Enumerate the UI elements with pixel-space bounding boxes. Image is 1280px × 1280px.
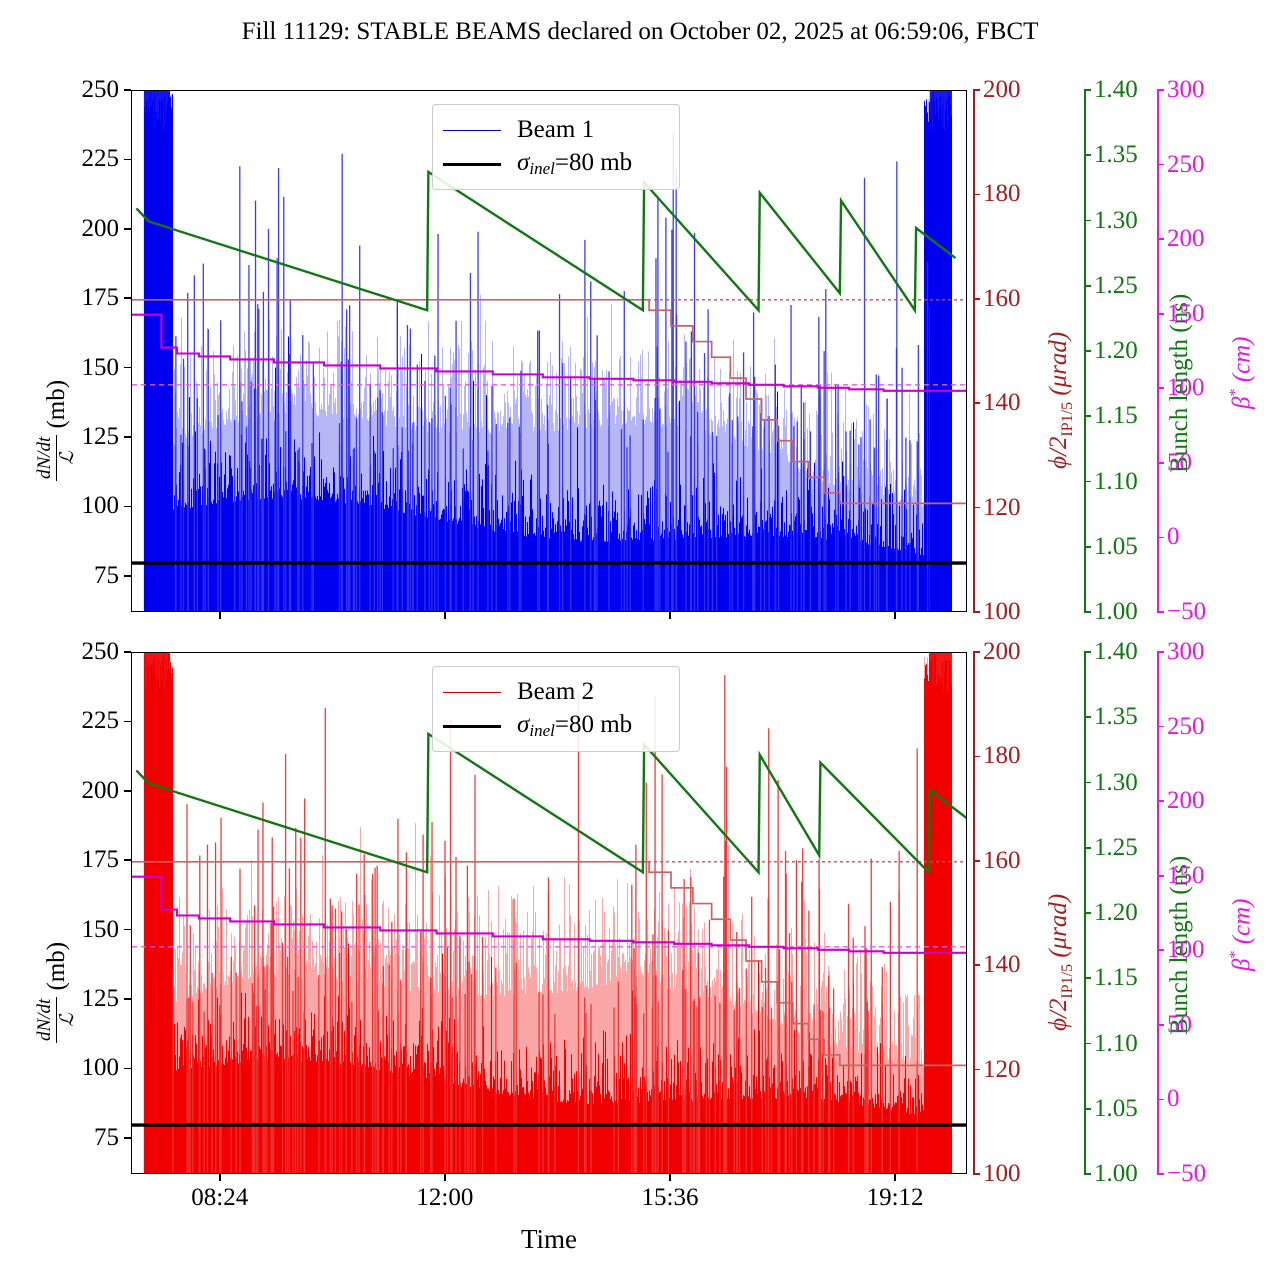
bunch-length-tick-mark	[1084, 782, 1091, 784]
legend-2: Beam 2σinel=80 mb	[432, 666, 680, 752]
bunch-length-sawtooth	[136, 172, 955, 310]
crossing-angle-tick-mark	[973, 860, 980, 862]
crossing-angle-tick-label: 180	[983, 742, 1021, 770]
bunch-length-tick-mark	[1084, 220, 1091, 222]
crossing-angle-tick-mark	[973, 651, 980, 653]
bunch-length-tick-label: 1.10	[1094, 1030, 1138, 1058]
page-title: Fill 11129: STABLE BEAMS declared on Oct…	[0, 18, 1280, 46]
x-axis-tick-label: 15:36	[642, 1184, 699, 1212]
beta-star-tick-label: 250	[1167, 713, 1205, 741]
beta-star-tick-label: 0	[1167, 523, 1180, 551]
legend-1: Beam 1σinel=80 mb	[432, 104, 680, 190]
bunch-length-tick-mark	[1084, 154, 1091, 156]
bunch-length-tick-mark	[1084, 1108, 1091, 1110]
x-axis-tick-mark	[669, 612, 671, 619]
x-axis-tick-label: 19:12	[867, 1184, 924, 1212]
left-axis-tick-label: 175	[0, 284, 119, 312]
left-axis-tick-mark	[124, 790, 131, 792]
crossing-angle-tick-label: 140	[983, 389, 1021, 417]
crossing-angle-tick-mark	[973, 298, 980, 300]
left-axis-title: dN/dtℒ (mb)	[34, 380, 80, 481]
crossing-angle-tick-label: 100	[983, 1160, 1021, 1188]
legend-line-swatch	[443, 130, 501, 131]
bunch-length-tick-label: 1.30	[1094, 769, 1138, 797]
beta-star-tick-label: 200	[1167, 225, 1205, 253]
bunch-length-tick-mark	[1084, 651, 1091, 653]
beta-star-tick-label: 50	[1167, 449, 1192, 477]
x-axis-tick-mark	[444, 612, 446, 619]
bunch-length-tick-label: 1.20	[1094, 899, 1138, 927]
bunch-length-tick-label: 1.35	[1094, 141, 1138, 169]
crossing-angle-axis-spine	[973, 90, 975, 612]
left-axis-tick-label: 225	[0, 707, 119, 735]
legend-line-swatch	[443, 725, 501, 728]
crossing-angle-tick-label: 180	[983, 180, 1021, 208]
beta-star-tick-mark	[1157, 462, 1164, 464]
beta-star-tick-label: 0	[1167, 1085, 1180, 1113]
bunch-length-tick-mark	[1084, 1173, 1091, 1175]
left-axis-title: dN/dtℒ (mb)	[34, 942, 80, 1043]
beta-star-tick-mark	[1157, 313, 1164, 315]
beta-star-tick-label: 100	[1167, 374, 1205, 402]
beta-star-axis-title: β* (cm)	[1227, 336, 1256, 409]
bunch-length-tick-label: 1.25	[1094, 272, 1138, 300]
bunch-length-sawtooth	[136, 734, 967, 872]
beta-star-tick-mark	[1157, 800, 1164, 802]
x-axis-tick-label: 08:24	[191, 1184, 248, 1212]
left-axis-tick-mark	[124, 1068, 131, 1070]
crossing-angle-tick-label: 120	[983, 494, 1021, 522]
beta-star-tick-label: −50	[1167, 1160, 1206, 1188]
legend-entry: σinel=80 mb	[443, 147, 665, 181]
bunch-length-tick-label: 1.15	[1094, 402, 1138, 430]
bunch-length-tick-mark	[1084, 847, 1091, 849]
crossing-angle-axis-spine	[973, 652, 975, 1174]
bunch-length-tick-label: 1.35	[1094, 703, 1138, 731]
beta-star-tick-mark	[1157, 387, 1164, 389]
beta-star-tick-mark	[1157, 875, 1164, 877]
beta-star-axis-title: β* (cm)	[1227, 898, 1256, 971]
bunch-length-tick-mark	[1084, 481, 1091, 483]
beta-star-tick-mark	[1157, 949, 1164, 951]
legend-entry-label: Beam 2	[517, 678, 594, 706]
crossing-angle-tick-mark	[973, 1173, 980, 1175]
bunch-length-tick-mark	[1084, 611, 1091, 613]
left-axis-tick-label: 75	[0, 1124, 119, 1152]
left-axis-tick-mark	[124, 575, 131, 577]
bunch-length-tick-label: 1.00	[1094, 1160, 1138, 1188]
beta-star-tick-label: 300	[1167, 76, 1205, 104]
crossing-angle-tick-label: 100	[983, 598, 1021, 626]
beta-star-tick-mark	[1157, 1099, 1164, 1101]
left-axis-tick-mark	[124, 998, 131, 1000]
x-axis-tick-mark	[219, 612, 221, 619]
crossing-angle-tick-mark	[973, 89, 980, 91]
beta-star-tick-mark	[1157, 89, 1164, 91]
x-axis-tick-mark	[894, 612, 896, 619]
bunch-length-tick-label: 1.00	[1094, 598, 1138, 626]
beta-star-tick-label: −50	[1167, 598, 1206, 626]
x-axis-tick-mark	[669, 1174, 671, 1181]
left-axis-tick-mark	[124, 297, 131, 299]
crossing-angle-tick-mark	[973, 756, 980, 758]
bunch-length-tick-mark	[1084, 89, 1091, 91]
left-axis-tick-mark	[124, 721, 131, 723]
bunch-length-tick-label: 1.40	[1094, 76, 1138, 104]
beta-star-tick-mark	[1157, 651, 1164, 653]
x-axis-tick-mark	[219, 1174, 221, 1181]
beta-star-tick-label: 300	[1167, 638, 1205, 666]
legend-entry-label: Beam 1	[517, 116, 594, 144]
beta-star-tick-mark	[1157, 537, 1164, 539]
left-axis-tick-mark	[124, 1137, 131, 1139]
crossing-angle-tick-mark	[973, 194, 980, 196]
bunch-length-tick-mark	[1084, 285, 1091, 287]
left-axis-tick-label: 250	[0, 76, 119, 104]
left-axis-tick-label: 250	[0, 638, 119, 666]
left-axis-tick-mark	[124, 929, 131, 931]
crossing-angle-tick-label: 160	[983, 285, 1021, 313]
beta-star-tick-label: 250	[1167, 151, 1205, 179]
crossing-angle-tick-mark	[973, 964, 980, 966]
crossing-angle-tick-mark	[973, 402, 980, 404]
left-axis-tick-label: 225	[0, 145, 119, 173]
left-axis-tick-mark	[124, 367, 131, 369]
beta-star-axis-spine	[1157, 90, 1159, 612]
bunch-length-tick-label: 1.15	[1094, 964, 1138, 992]
bunch-length-tick-mark	[1084, 350, 1091, 352]
bunch-length-tick-label: 1.40	[1094, 638, 1138, 666]
beta-star-step-curve	[132, 877, 967, 953]
x-axis-title: Time	[131, 1224, 967, 1255]
bunch-length-tick-label: 1.05	[1094, 533, 1138, 561]
bunch-length-tick-label: 1.05	[1094, 1095, 1138, 1123]
legend-entry: Beam 1	[443, 113, 665, 147]
legend-line-swatch	[443, 692, 501, 693]
crossing-angle-tick-mark	[973, 1069, 980, 1071]
beta-star-tick-label: 50	[1167, 1011, 1192, 1039]
left-axis-tick-mark	[124, 89, 131, 91]
beta-star-tick-mark	[1157, 164, 1164, 166]
x-axis-tick-mark	[444, 1174, 446, 1181]
bunch-length-tick-mark	[1084, 1043, 1091, 1045]
crossing-angle-tick-mark	[973, 507, 980, 509]
beta-star-axis-spine	[1157, 652, 1159, 1174]
legend-line-swatch	[443, 163, 501, 166]
left-axis-tick-label: 200	[0, 215, 119, 243]
beta-star-tick-label: 150	[1167, 300, 1205, 328]
bunch-length-tick-mark	[1084, 546, 1091, 548]
x-axis-tick-label: 12:00	[416, 1184, 473, 1212]
legend-entry: σinel=80 mb	[443, 709, 665, 743]
left-axis-tick-label: 100	[0, 492, 119, 520]
legend-entry-label: σinel=80 mb	[517, 711, 632, 741]
beta-star-tick-label: 150	[1167, 862, 1205, 890]
bunch-length-tick-label: 1.10	[1094, 468, 1138, 496]
left-axis-tick-label: 100	[0, 1054, 119, 1082]
left-axis-tick-mark	[124, 506, 131, 508]
bunch-length-tick-mark	[1084, 977, 1091, 979]
bunch-length-tick-mark	[1084, 716, 1091, 718]
left-axis-tick-mark	[124, 859, 131, 861]
bunch-length-tick-label: 1.30	[1094, 207, 1138, 235]
left-axis-tick-label: 75	[0, 562, 119, 590]
x-axis-tick-mark	[894, 1174, 896, 1181]
left-axis-tick-mark	[124, 436, 131, 438]
beta-star-tick-mark	[1157, 1173, 1164, 1175]
legend-entry: Beam 2	[443, 675, 665, 709]
beta-star-tick-mark	[1157, 1024, 1164, 1026]
bunch-length-tick-label: 1.20	[1094, 337, 1138, 365]
bunch-length-tick-mark	[1084, 415, 1091, 417]
beta-star-tick-label: 100	[1167, 936, 1205, 964]
crossing-angle-tick-label: 120	[983, 1056, 1021, 1084]
left-axis-tick-mark	[124, 159, 131, 161]
left-axis-tick-label: 150	[0, 916, 119, 944]
left-axis-tick-mark	[124, 228, 131, 230]
crossing-angle-axis-title: ϕ/2IP1/5 (μrad)	[1045, 332, 1077, 469]
left-axis-tick-mark	[124, 651, 131, 653]
beta-star-tick-mark	[1157, 238, 1164, 240]
crossing-angle-tick-mark	[973, 611, 980, 613]
bunch-length-tick-mark	[1084, 912, 1091, 914]
beta-star-tick-label: 200	[1167, 787, 1205, 815]
left-axis-tick-label: 200	[0, 777, 119, 805]
left-axis-tick-label: 175	[0, 846, 119, 874]
crossing-angle-axis-title: ϕ/2IP1/5 (μrad)	[1045, 894, 1077, 1031]
crossing-angle-tick-label: 200	[983, 638, 1021, 666]
bunch-length-tick-label: 1.25	[1094, 834, 1138, 862]
beta-star-tick-mark	[1157, 726, 1164, 728]
crossing-angle-tick-label: 160	[983, 847, 1021, 875]
beta-star-tick-mark	[1157, 611, 1164, 613]
crossing-angle-tick-label: 140	[983, 951, 1021, 979]
crossing-angle-tick-label: 200	[983, 76, 1021, 104]
left-axis-tick-label: 150	[0, 354, 119, 382]
legend-entry-label: σinel=80 mb	[517, 149, 632, 179]
